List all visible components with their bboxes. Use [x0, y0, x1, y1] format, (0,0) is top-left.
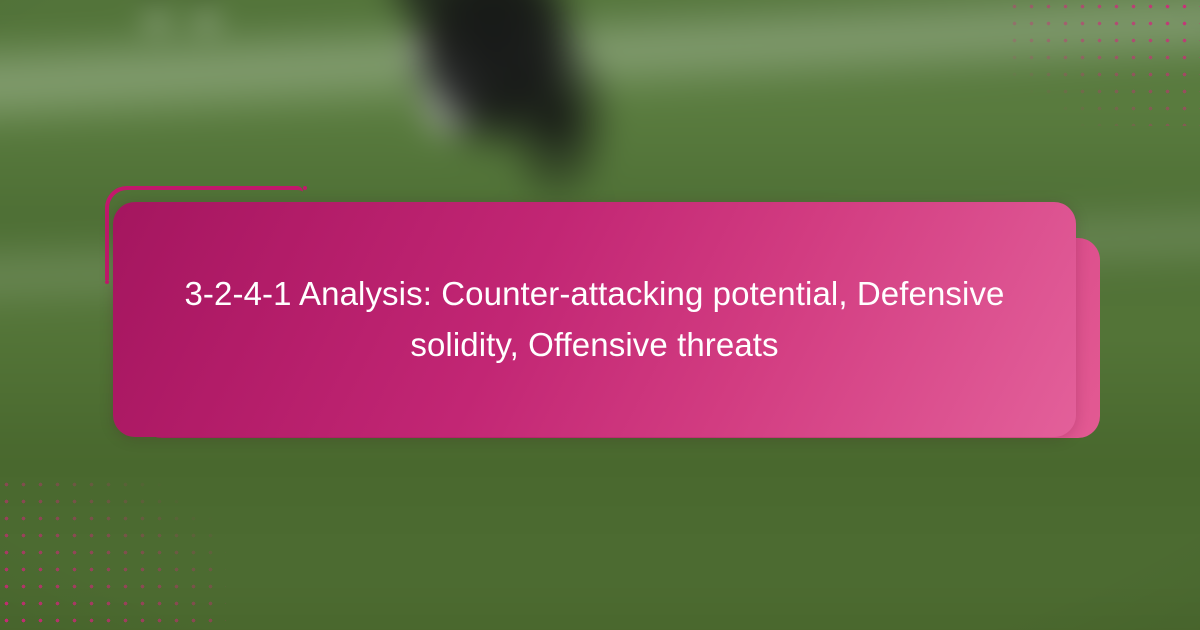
title-card: 3-2-4-1 Analysis: Counter-attacking pote…: [113, 202, 1076, 437]
og-image-canvas: 3-2-4-1 Analysis: Counter-attacking pote…: [0, 0, 1200, 630]
page-title: 3-2-4-1 Analysis: Counter-attacking pote…: [113, 269, 1076, 369]
